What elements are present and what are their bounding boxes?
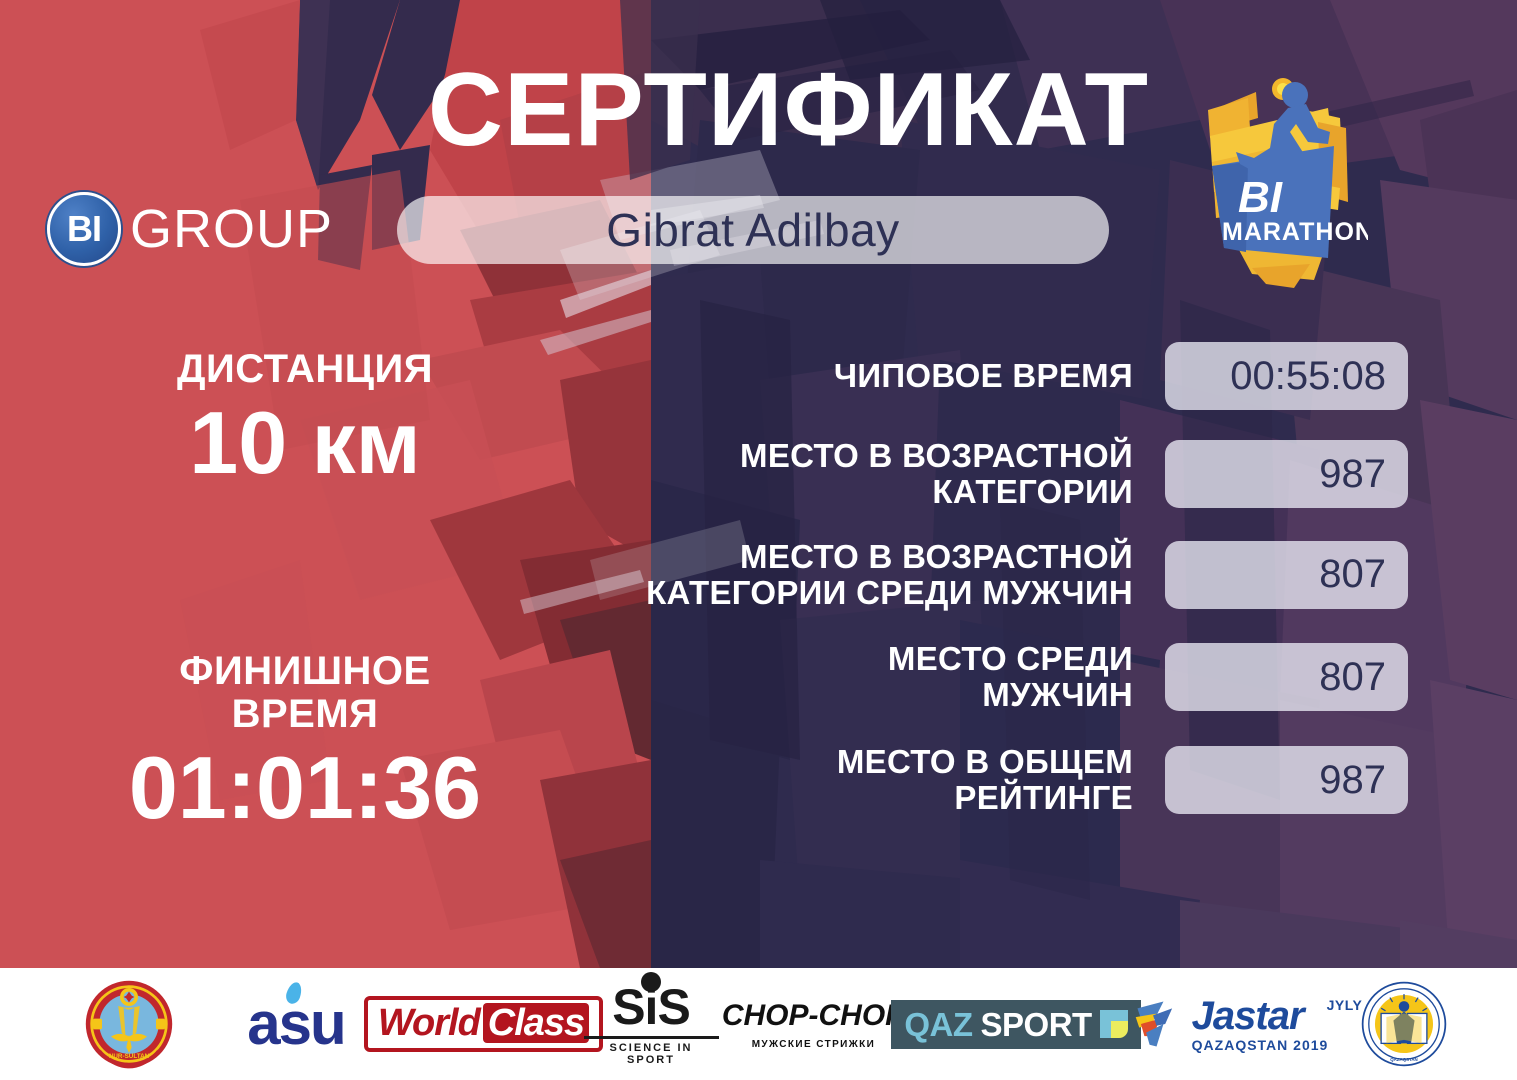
stat-value: 987 [1165,440,1408,508]
jastar-text-3: QAZAQSTAN 2019 [1192,1038,1329,1052]
sponsor-jastar-jyly: Jastar JYLY QAZAQSTAN 2019 [1124,974,1339,1074]
sis-text-1: SiS [612,982,690,1032]
stat-row: МЕСТО В ОБЩЕМ РЕЙТИНГЕ 987 [608,744,1408,817]
sis-divider [584,1036,719,1039]
participant-name-field: Gibrat Adilbay [397,196,1109,264]
stat-row: МЕСТО В ВОЗРАСТНОЙ КАТЕГОРИИ 987 [608,438,1408,511]
chop-chop-text-1: CHOP-CHOP [722,999,905,1033]
asu-label: asu [247,994,344,1054]
marathon-word-text: MARATHON [1222,218,1368,246]
svg-text:NUR-SULTAN: NUR-SULTAN [108,1053,149,1060]
stat-row: МЕСТО В ВОЗРАСТНОЙ КАТЕГОРИИ СРЕДИ МУЖЧИ… [608,539,1408,612]
sponsor-qazsport: QAZSPORT [909,974,1124,1074]
sponsor-bar: NUR-SULTAN asu World Class SiS [0,968,1517,1080]
jastar-text-block: Jastar JYLY QAZAQSTAN 2019 [1192,996,1329,1052]
certificate: СЕРТИФИКАТ BI GROUP Gibrat Adilbay [0,0,1517,1080]
stat-row: МЕСТО СРЕДИ МУЖЧИН 807 [608,641,1408,714]
sis-label: SiS SCIENCE IN SPORT [584,982,719,1066]
sponsor-world-class: World Class [384,974,584,1074]
qazsport-text-2: SPORT [981,1008,1092,1041]
stat-label: МЕСТО В ВОЗРАСТНОЙ КАТЕГОРИИ СРЕДИ МУЖЧИ… [608,539,1165,612]
jastar-logo: Jastar JYLY QAZAQSTAN 2019 [1134,996,1329,1052]
distance-value: 10 км [55,397,555,489]
sis-text-2: SCIENCE IN SPORT [584,1042,719,1066]
stats-list: ЧИПОВОЕ ВРЕМЯ 00:55:08 МЕСТО В ВОЗРАСТНО… [608,342,1408,838]
chop-chop-label: CHOP-CHOP МУЖСКИЕ СТРИЖКИ [722,999,905,1050]
stat-value: 807 [1165,541,1408,609]
distance-block: ДИСТАНЦИЯ 10 км [55,348,555,490]
chop-chop-text-2: МУЖСКИЕ СТРИЖКИ [722,1039,905,1050]
stat-value: 00:55:08 [1165,342,1408,410]
stat-row: ЧИПОВОЕ ВРЕМЯ 00:55:08 [608,342,1408,410]
sponsor-nur-sultan: NUR-SULTAN [49,974,209,1074]
bi-marathon-logo: BI MARATHON [1178,62,1368,302]
stat-label: ЧИПОВОЕ ВРЕМЯ [608,358,1165,394]
svg-text:QAZAQSTAN: QAZAQSTAN [1390,1057,1417,1062]
world-class-text-2: Class [483,1003,589,1043]
bi-group-logo: BI GROUP [47,192,333,266]
finish-time-block: ФИНИШНОЕ ВРЕМЯ 01:01:36 [55,650,555,835]
sis-runner-dot-icon [641,972,661,992]
stat-value: 987 [1165,746,1408,814]
qazsport-text-1: QAZ [904,1008,972,1041]
ministry-seal-icon: QAZAQSTAN [1360,980,1448,1068]
sponsor-ministry-seal: QAZAQSTAN [1339,974,1469,1074]
jastar-text-2: JYLY [1327,998,1363,1012]
sponsor-chop-chop: CHOP-CHOP МУЖСКИЕ СТРИЖКИ [719,974,909,1074]
distance-label: ДИСТАНЦИЯ [55,348,555,391]
sponsor-sis: SiS SCIENCE IN SPORT [584,974,719,1074]
sponsor-asu: asu [209,974,384,1074]
jastar-text-1: Jastar [1192,996,1329,1036]
marathon-bi-text: BI [1238,173,1283,222]
qazsport-square-icon [1100,1010,1128,1038]
jastar-bird-icon [1134,998,1186,1050]
stat-value: 807 [1165,643,1408,711]
world-class-label: World Class [364,996,603,1052]
stat-label: МЕСТО В ОБЩЕМ РЕЙТИНГЕ [608,744,1165,817]
stat-label: МЕСТО СРЕДИ МУЖЧИН [608,641,1165,714]
qazsport-label: QAZSPORT [891,1000,1140,1049]
finish-time-label: ФИНИШНОЕ ВРЕМЯ [55,650,555,736]
bi-group-label: GROUP [130,198,333,260]
bi-badge-icon: BI [47,192,121,266]
nur-sultan-emblem-icon: NUR-SULTAN [84,979,174,1069]
finish-time-value: 01:01:36 [55,742,555,834]
world-class-text-1: World [378,1004,480,1042]
participant-name: Gibrat Adilbay [606,203,899,257]
stat-label: МЕСТО В ВОЗРАСТНОЙ КАТЕГОРИИ [608,438,1165,511]
